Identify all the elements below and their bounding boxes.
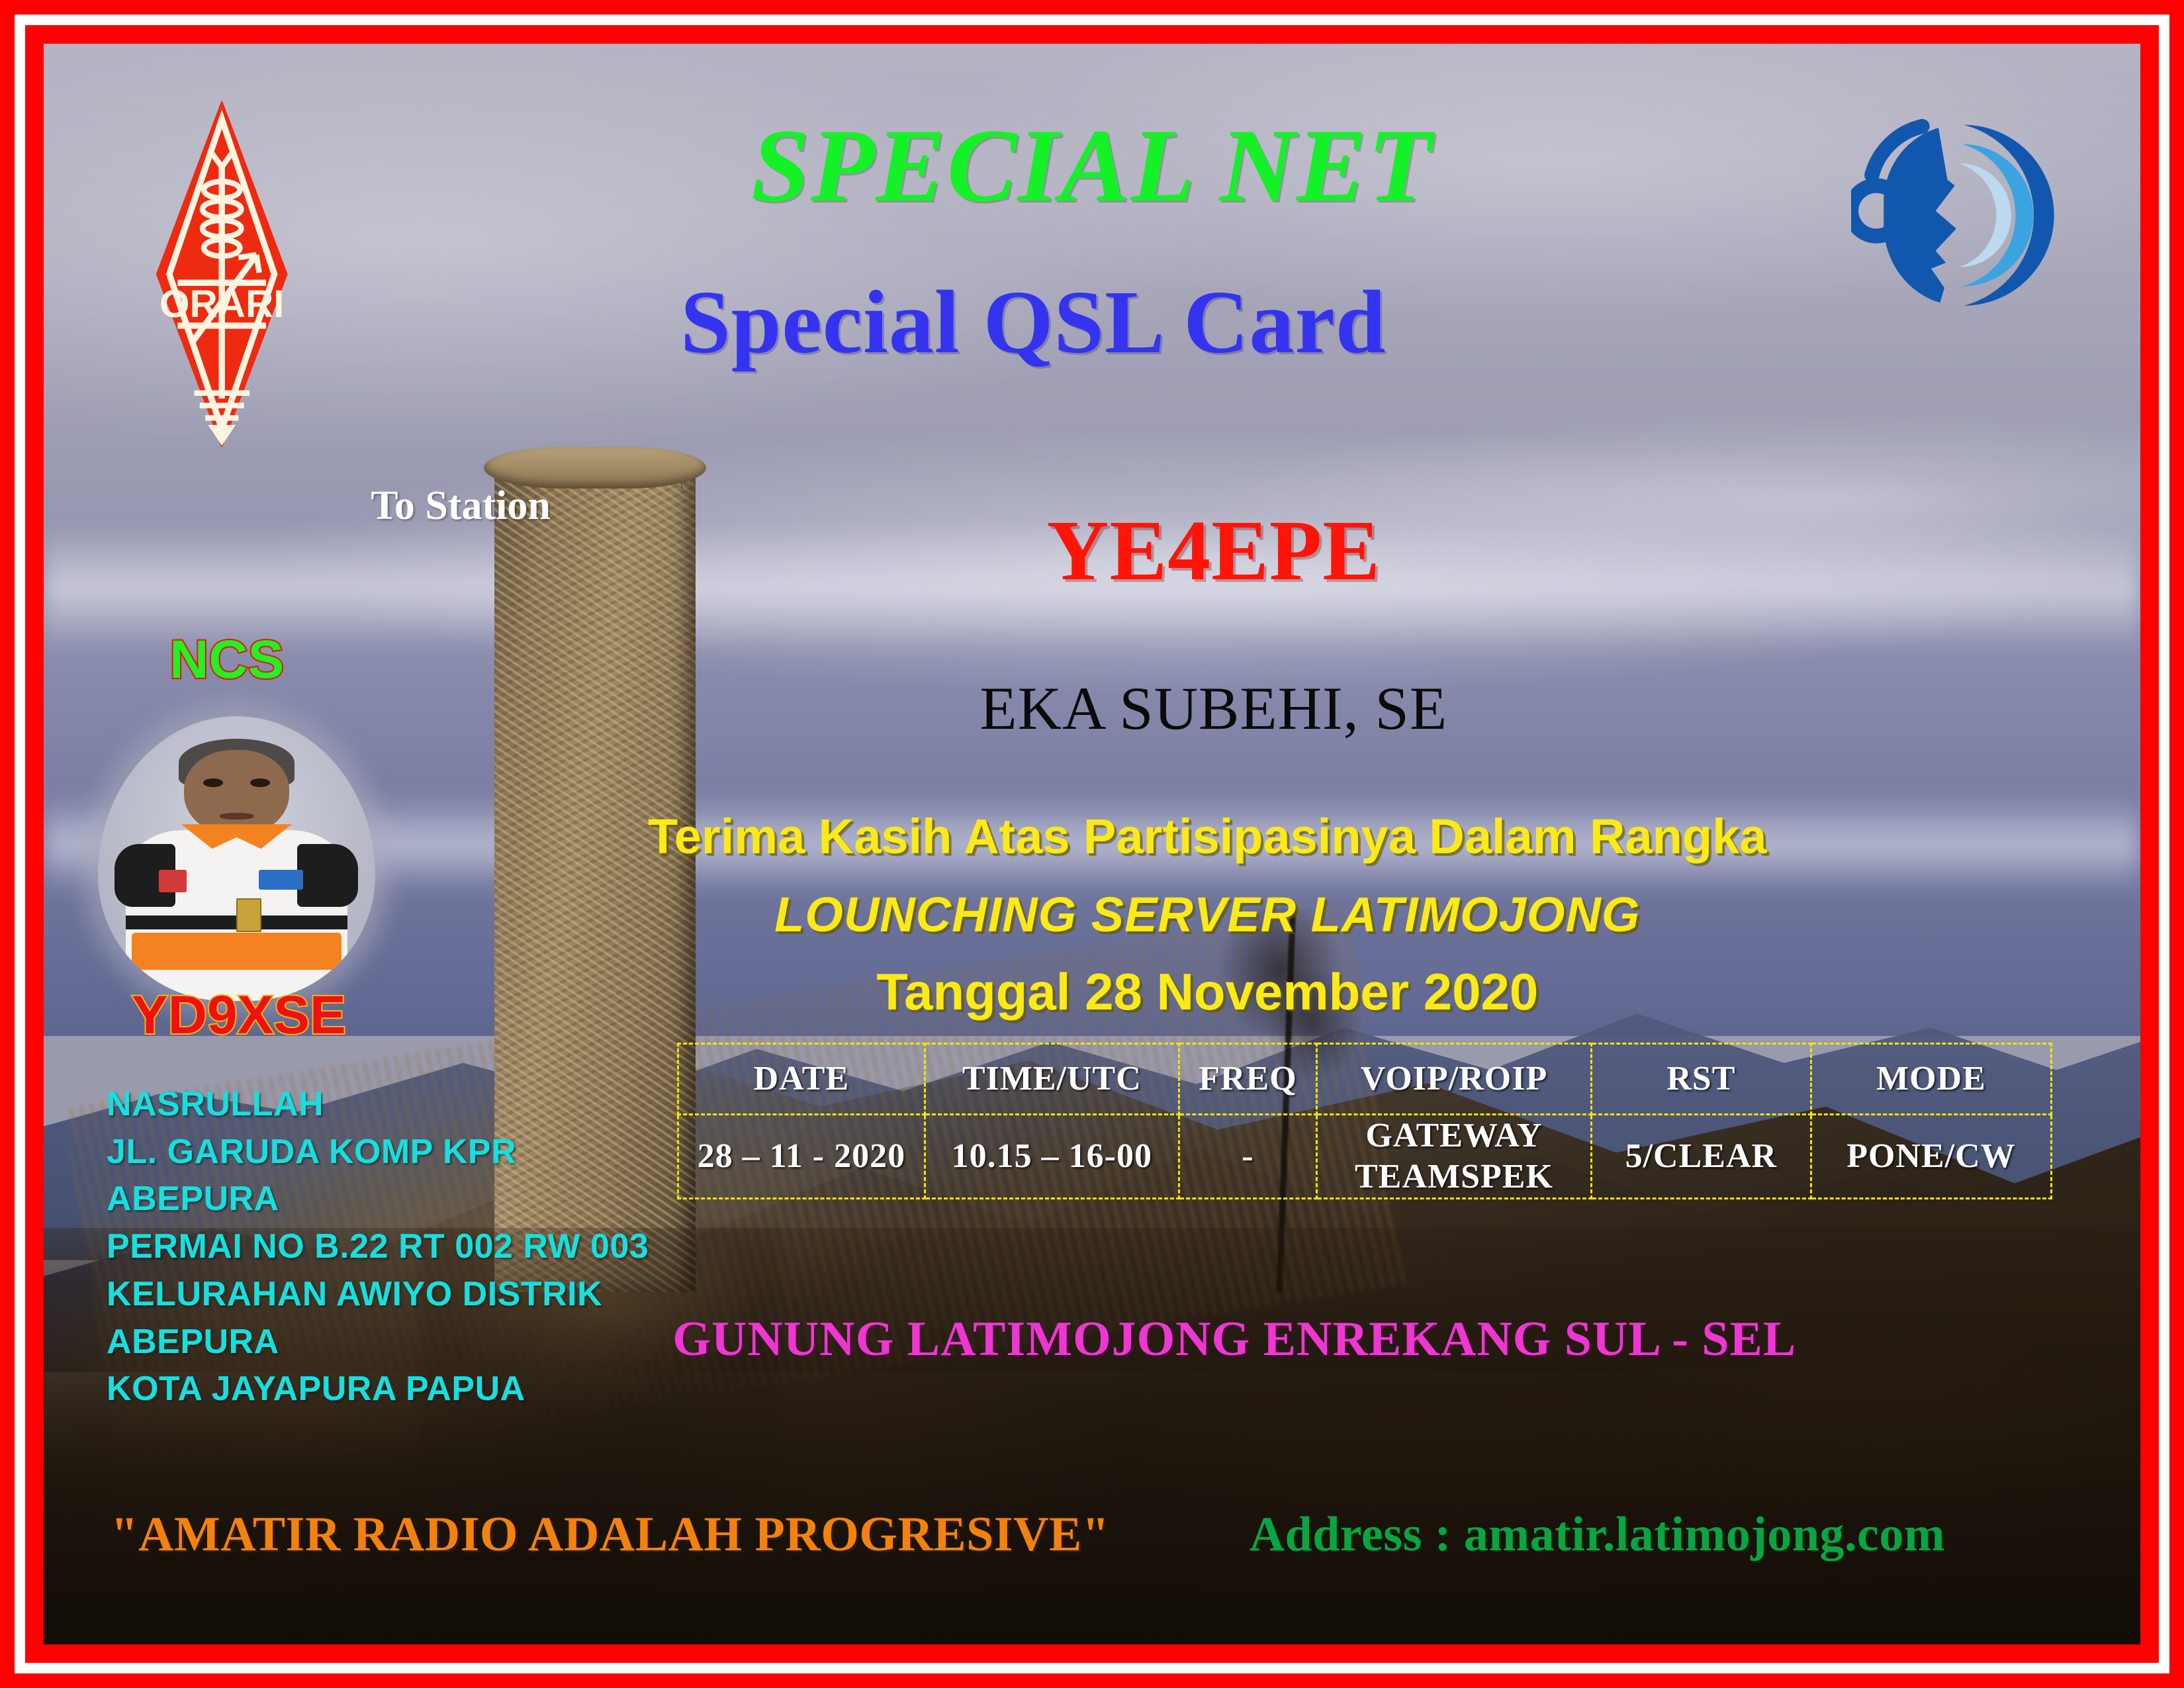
pillar-cap <box>484 447 706 489</box>
ncs-label: NCS <box>169 633 284 687</box>
orari-logo-label: ORARI <box>159 283 284 326</box>
station-callsign: YE4EPE <box>1047 508 1381 594</box>
event-line: LOUNCHING SERVER LATIMOJONG <box>774 890 1640 939</box>
column-header-voip-roip: VOIP/ROIP <box>1317 1043 1591 1114</box>
avatar-id-card <box>236 898 261 932</box>
avatar-sash <box>132 933 342 970</box>
address-line: KELURAHAN AWIYO DISTRIK <box>107 1271 649 1319</box>
avatar-badge-left <box>159 870 187 892</box>
location-caption: GUNUNG LATIMOJONG ENREKANG SUL - SEL <box>672 1315 1796 1364</box>
cell-time: 10.15 – 16-00 <box>925 1114 1179 1198</box>
column-header-freq: FREQ <box>1179 1043 1317 1114</box>
page-title: SPECIAL NET <box>751 114 1433 218</box>
card-white-frame: ORARI SPECIAL NET Special QSL Card To St… <box>15 15 2169 1673</box>
address-line: ABEPURA <box>107 1319 649 1366</box>
card-red-frame: ORARI SPECIAL NET Special QSL Card To St… <box>25 25 2159 1663</box>
address-line: PERMAI NO B.22 RT 002 RW 003 <box>107 1223 649 1271</box>
cell-voip-line1: GATEWAY <box>1318 1115 1590 1156</box>
table-header-row: DATE TIME/UTC FREQ VOIP/ROIP RST MODE <box>678 1043 2051 1114</box>
address-line: KOTA JAYAPURA PAPUA <box>107 1366 649 1413</box>
table-row: 28 – 11 - 2020 10.15 – 16-00 - GATEWAY T… <box>678 1114 2051 1198</box>
qso-log-table: DATE TIME/UTC FREQ VOIP/ROIP RST MODE 28… <box>677 1043 2052 1199</box>
orari-logo: ORARI <box>132 101 312 447</box>
footer-web-address: Address : amatir.latimojong.com <box>1250 1510 1945 1559</box>
column-header-rst: RST <box>1591 1043 1811 1114</box>
pillar-twig <box>681 450 752 489</box>
cell-freq: - <box>1179 1114 1317 1198</box>
avatar-mouth <box>220 813 253 820</box>
cell-voip-roip: GATEWAY TEAMSPEK <box>1317 1114 1591 1198</box>
thanks-line: Terima Kasih Atas Partisipasinya Dalam R… <box>648 812 1766 861</box>
event-date: Tanggal 28 November 2020 <box>876 966 1538 1017</box>
avatar-eye-right <box>250 778 269 787</box>
page-subtitle: Special QSL Card <box>680 277 1386 367</box>
card-photo-background: ORARI SPECIAL NET Special QSL Card To St… <box>44 44 2140 1644</box>
cell-mode: PONE/CW <box>1811 1114 2051 1198</box>
to-station-label: To Station <box>371 485 551 526</box>
qsl-card: ORARI SPECIAL NET Special QSL Card To St… <box>0 0 2184 1688</box>
column-header-date: DATE <box>678 1043 925 1114</box>
avatar-face <box>184 750 289 835</box>
avatar-eye-left <box>203 778 222 787</box>
column-header-mode: MODE <box>1811 1043 2051 1114</box>
avatar-shoulder-right <box>297 844 358 907</box>
footer-motto: "AMATIR RADIO ADALAH PROGRESIVE" <box>111 1510 1109 1559</box>
address-block: NASRULLAH JL. GARUDA KOMP KPR ABEPURA PE… <box>107 1081 649 1413</box>
ncs-callsign: YD9XSE <box>132 988 346 1043</box>
headset-soundwave-icon <box>1851 92 2073 338</box>
address-line: NASRULLAH <box>107 1081 649 1129</box>
cell-date: 28 – 11 - 2020 <box>678 1114 925 1198</box>
address-line: JL. GARUDA KOMP KPR <box>107 1129 649 1176</box>
cell-voip-line2: TEAMSPEK <box>1318 1156 1590 1197</box>
address-line: ABEPURA <box>107 1176 649 1223</box>
cell-rst: 5/CLEAR <box>1591 1114 1811 1198</box>
operator-name: EKA SUBEHI, SE <box>979 678 1447 739</box>
avatar-badge-right <box>259 870 303 890</box>
column-header-time: TIME/UTC <box>925 1043 1179 1114</box>
